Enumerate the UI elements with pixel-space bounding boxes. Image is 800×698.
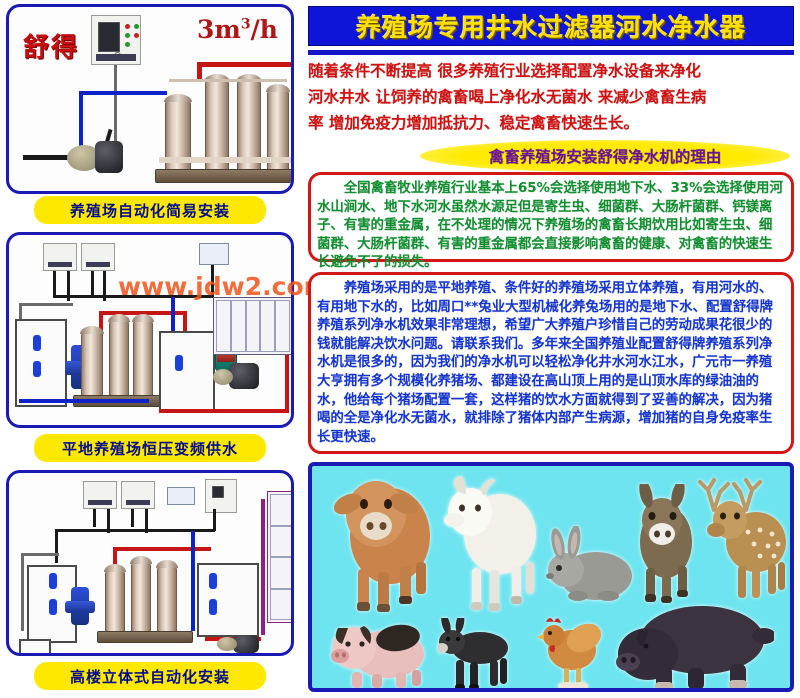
clean-water-tank xyxy=(159,331,215,411)
jet-pump-head-p3 xyxy=(217,637,237,651)
panel-1-caption: 养殖场自动化简易安装 xyxy=(34,196,266,224)
control-cabinet-icon xyxy=(91,15,141,65)
animal-goat xyxy=(440,472,550,614)
animal-deer xyxy=(690,476,790,606)
intro-line-1: 随着条件不断提高 很多养殖行业选择配置净水设备来净化 xyxy=(308,58,796,84)
brand-label: 舒得 xyxy=(23,27,79,64)
suction-line xyxy=(23,155,71,160)
cable-p3-c xyxy=(131,509,134,527)
manifold-top xyxy=(169,79,287,82)
filter-vessel-p3-1 xyxy=(105,569,125,637)
animal-chicken xyxy=(534,612,606,692)
filter-vessel-p3-2 xyxy=(131,561,151,637)
right-content-column: 养殖场专用井水过滤器河水净水器 随着条件不断提高 很多养殖行业选择配置净水设备来… xyxy=(300,0,800,698)
control-cabinet-a xyxy=(43,243,77,271)
float-switch-left xyxy=(33,335,41,351)
panel-2-caption: 平地养殖场恒压变频供水 xyxy=(34,434,266,462)
control-cabinet-b xyxy=(81,243,115,271)
supply-loop-right xyxy=(285,355,289,413)
float-switch-right xyxy=(175,355,183,371)
poster-title-bar: 养殖场专用井水过滤器河水净水器 xyxy=(308,6,794,46)
pipe-outlet-top xyxy=(197,62,293,67)
control-cabinet-e xyxy=(205,479,237,513)
filter-vessel-p2-2 xyxy=(109,319,129,401)
diagram-panel-1: 舒得 3m3/h xyxy=(6,4,294,194)
cable-to-remote xyxy=(211,265,214,297)
info-box-case-study: 养殖场采用的是平地养殖、条件好的养殖场采用立体养殖，有用河水的、有用地下水的，比… xyxy=(308,272,794,454)
diagram-panel-2 xyxy=(6,232,294,428)
equipment-base-p3 xyxy=(97,631,193,643)
float-switch-p3-c xyxy=(209,573,217,589)
left-diagram-column: 舒得 3m3/h xyxy=(0,0,300,698)
panel-3-caption: 高楼立体式自动化安装 xyxy=(34,662,266,690)
pipe-inlet-horizontal xyxy=(79,91,167,95)
intro-line-3: 率 增加免疫力增加抵抗力、稳定禽畜快速生长。 xyxy=(308,110,796,136)
cable-p3-left xyxy=(55,529,58,563)
level-controller-icon xyxy=(167,487,195,505)
animal-black-pig xyxy=(614,596,774,692)
intro-line-2: 河水井水 让饲养的禽畜喝上净化水无菌水 来减少禽畜生病 xyxy=(308,84,796,110)
filter-vessel-p2-3 xyxy=(133,319,153,401)
filter-vessel-p2-1 xyxy=(81,331,103,401)
info-box-water-sources: 全国禽畜牧业养殖行业基本上65%会选择使用地下水、33%会选择使用河水山涧水、地… xyxy=(308,172,794,262)
signal-line-top xyxy=(19,303,73,306)
signal-p3-left xyxy=(21,553,24,631)
float-switch-left-2 xyxy=(33,361,41,377)
float-switch-p3-d xyxy=(209,599,217,615)
poster-title: 养殖场专用井水过滤器河水净水器 xyxy=(356,8,746,44)
booster-pump-right xyxy=(229,363,259,389)
cable-c xyxy=(91,271,94,295)
pump-flange-right xyxy=(213,369,233,385)
pipe-red-p3-header xyxy=(113,547,211,551)
control-cabinet-c xyxy=(83,481,117,509)
drain-line-bottom xyxy=(19,399,149,403)
info-box-green-text: 全国禽畜牧业养殖行业基本上65%会选择使用地下水、33%会选择使用河水山涧水、地… xyxy=(317,180,785,273)
well-icon-p3 xyxy=(19,639,51,655)
info-box-blue-text: 养殖场采用的是平地养殖、条件好的养殖场采用立体养殖，有用河水的、有用地下水的，比… xyxy=(317,280,785,447)
intro-paragraph: 随着条件不断提高 很多养殖行业选择配置净水设备来净化 河水井水 让饲养的禽畜喝上… xyxy=(308,58,796,136)
pipe-inlet-riser xyxy=(79,91,83,147)
rooftop-tank-p3 xyxy=(197,563,259,637)
manifold-bottom xyxy=(159,157,291,163)
equipment-base xyxy=(155,169,294,183)
cable-bus xyxy=(53,295,213,298)
pipe-blue-p3 xyxy=(191,531,195,631)
supply-loop-bottom xyxy=(159,409,289,413)
diagram-panel-3 xyxy=(6,470,294,656)
animals-photo-panel xyxy=(308,462,794,692)
filter-vessel-p3-3 xyxy=(157,565,177,637)
flow-rate-label: 3m3/h xyxy=(197,15,278,44)
float-switch-p3-a xyxy=(49,573,57,589)
barn-building-icon xyxy=(213,297,293,355)
remote-controller-icon xyxy=(199,243,229,265)
title-divider xyxy=(308,50,794,55)
poster-root: 舒得 3m3/h xyxy=(0,0,800,698)
cable-p3-right xyxy=(213,509,216,531)
float-switch-p3-b xyxy=(49,599,57,615)
cable-p3-a xyxy=(93,509,96,527)
animal-donkey-black xyxy=(438,618,514,692)
highrise-building-icon xyxy=(267,491,294,623)
pump-motor-icon xyxy=(95,141,123,173)
animal-cow xyxy=(328,474,448,614)
raw-water-tank xyxy=(15,319,67,407)
cable-a xyxy=(53,271,56,295)
cable-cabinet-down xyxy=(114,65,117,147)
reason-banner: 禽畜养殖场安装舒得净水机的理由 xyxy=(420,140,790,172)
pump-flange-p3 xyxy=(65,601,95,613)
filter-vessel-1 xyxy=(165,99,191,175)
reason-banner-label: 禽畜养殖场安装舒得净水机的理由 xyxy=(489,145,722,167)
riser-to-building xyxy=(261,499,265,635)
pipe-outlet-drop xyxy=(197,62,202,80)
animal-piglet xyxy=(328,614,432,690)
signal-p3-top xyxy=(21,553,59,556)
control-cabinet-d xyxy=(121,481,155,509)
